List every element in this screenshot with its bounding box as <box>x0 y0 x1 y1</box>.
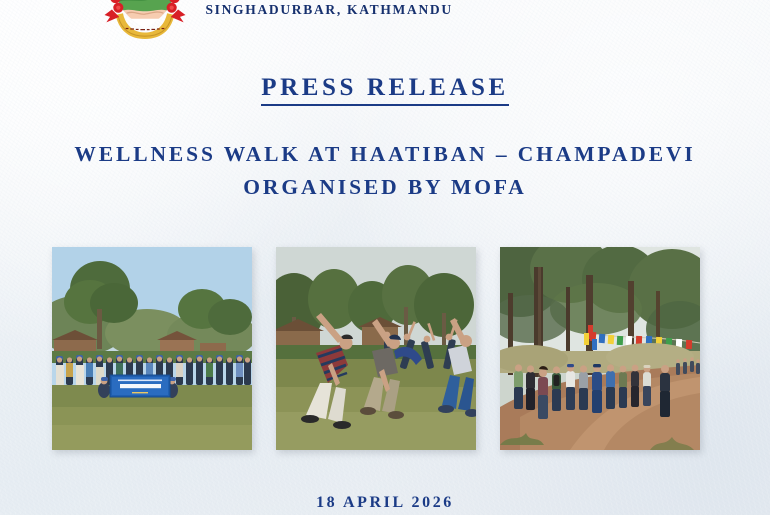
header-text-block: MINISTRY OF FOREIGN AFFAIRS SINGHADURBAR… <box>205 0 670 18</box>
trail-walk-photo <box>500 247 700 450</box>
page-title-line2: ORGANISED BY MOFA <box>0 171 770 204</box>
photo-gallery <box>52 247 700 450</box>
group-photo-with-banner <box>52 247 252 450</box>
press-release-heading: PRESS RELEASE <box>0 74 770 106</box>
release-date: 18 APRIL 2026 <box>0 494 770 512</box>
nepal-government-emblem-icon <box>99 0 191 50</box>
page-title-line1: WELLNESS WALK AT HAATIBAN – CHAMPADEVI <box>74 142 695 166</box>
ministry-address: SINGHADURBAR, KATHMANDU <box>205 2 670 18</box>
press-release-label: PRESS RELEASE <box>261 74 509 106</box>
page-title: WELLNESS WALK AT HAATIBAN – CHAMPADEVI O… <box>0 138 770 205</box>
poster-page: MINISTRY OF FOREIGN AFFAIRS SINGHADURBAR… <box>0 0 770 515</box>
warm-up-stretching-photo <box>276 247 476 450</box>
document-header: MINISTRY OF FOREIGN AFFAIRS SINGHADURBAR… <box>0 0 770 50</box>
